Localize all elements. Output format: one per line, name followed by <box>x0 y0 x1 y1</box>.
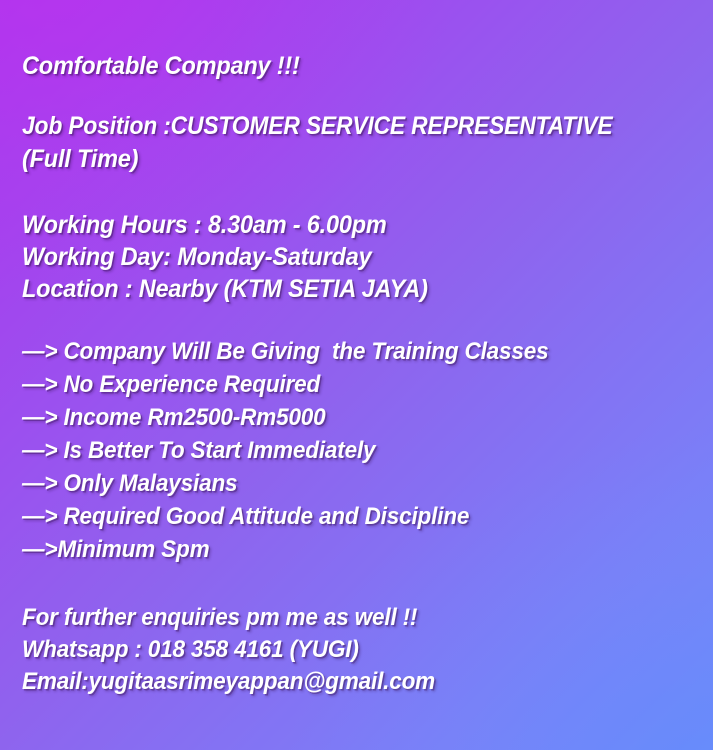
list-item: —>Minimum Spm <box>22 533 666 566</box>
enquiries-line: For further enquiries pm me as well !! <box>22 566 666 634</box>
working-hours-line: Working Hours : 8.30am - 6.00pm <box>22 176 666 241</box>
working-day-line: Working Day: Monday-Saturday <box>22 241 666 273</box>
requirements-list: —> Company Will Be Giving the Training C… <box>22 305 707 566</box>
contact-block: For further enquiries pm me as well !! W… <box>22 566 707 698</box>
list-item: —> Is Better To Start Immediately <box>22 434 666 467</box>
poster-heading: Comfortable Company !!! <box>22 0 666 82</box>
job-position-block: Job Position :CUSTOMER SERVICE REPRESENT… <box>22 82 707 176</box>
list-item: —> Company Will Be Giving the Training C… <box>22 305 666 368</box>
job-position-line: Job Position :CUSTOMER SERVICE REPRESENT… <box>22 82 649 143</box>
email-line[interactable]: Email:yugitaasrimeyappan@gmail.com <box>22 666 666 698</box>
employment-type-line: (Full Time) <box>22 143 666 176</box>
location-line: Location : Nearby (KTM SETIA JAYA) <box>22 273 666 305</box>
list-item: —> No Experience Required <box>22 368 666 401</box>
whatsapp-line[interactable]: Whatsapp : 018 358 4161 (YUGI) <box>22 634 666 666</box>
job-details-block: Working Hours : 8.30am - 6.00pm Working … <box>22 176 707 305</box>
poster-content: Comfortable Company !!! Job Position :CU… <box>0 0 713 698</box>
job-advertisement-poster: Comfortable Company !!! Job Position :CU… <box>0 0 713 750</box>
list-item: —> Only Malaysians <box>22 467 666 500</box>
list-item: —> Income Rm2500-Rm5000 <box>22 401 666 434</box>
list-item: —> Required Good Attitude and Discipline <box>22 500 666 533</box>
